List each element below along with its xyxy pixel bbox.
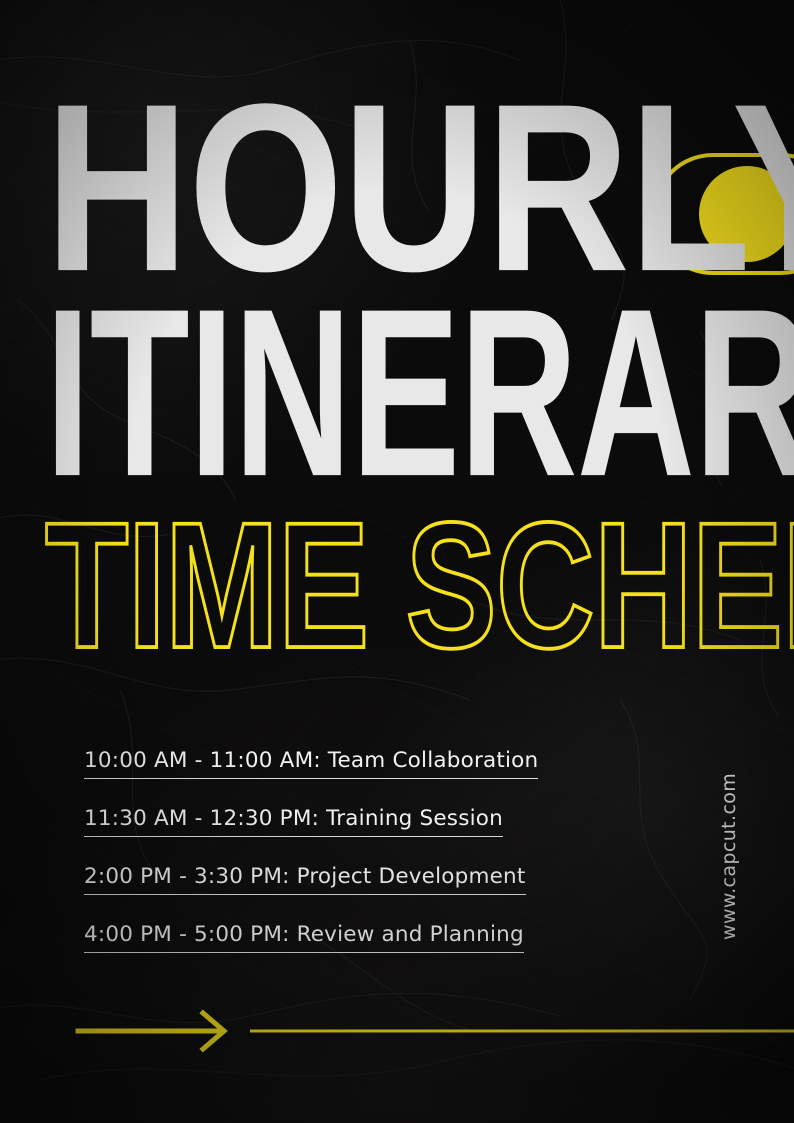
poster-canvas: HOURLY ITINERARY TIME SCHEDULE 10:00 AM … (0, 0, 794, 1123)
background-vignette (0, 0, 794, 1123)
